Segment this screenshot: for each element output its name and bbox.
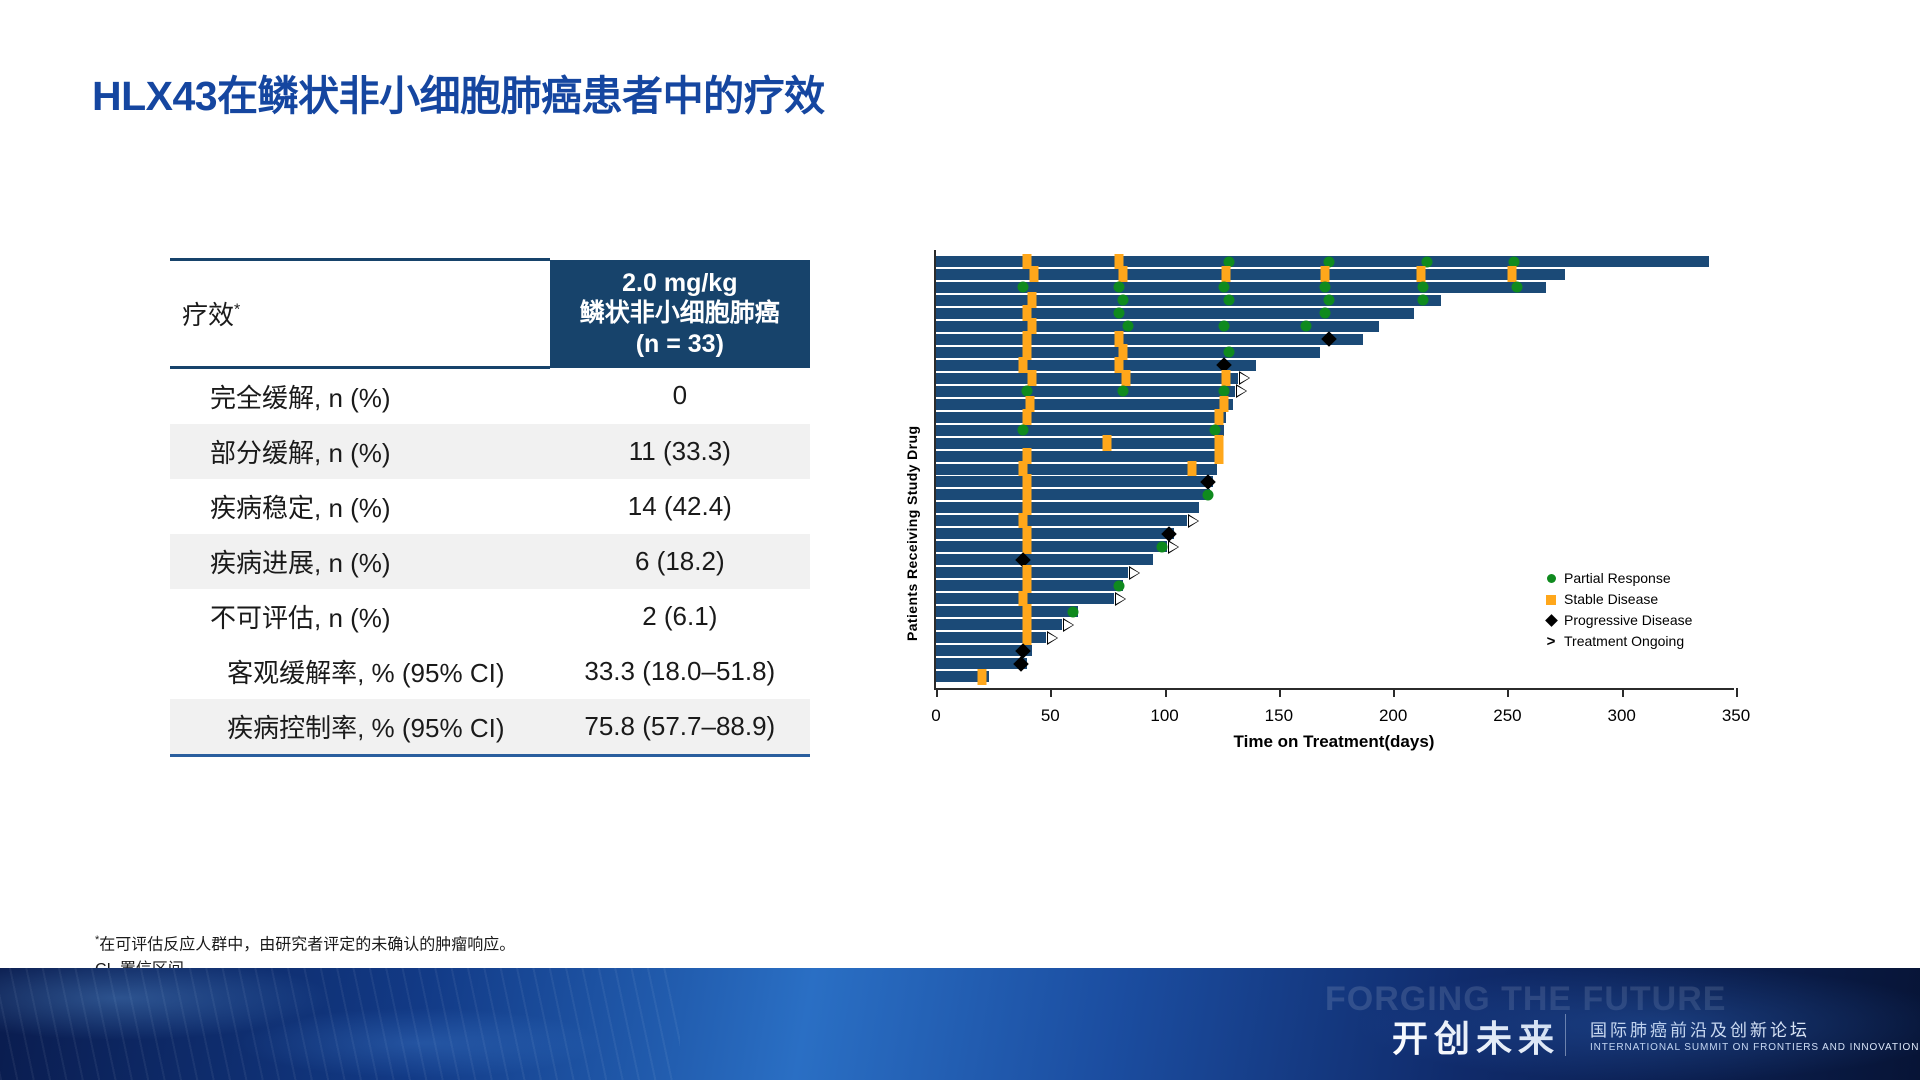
row-value: 14 (42.4) — [550, 479, 810, 534]
patient-bar-row — [936, 502, 1736, 513]
patient-bar-row — [936, 528, 1736, 539]
partial-response-marker — [1509, 256, 1520, 267]
x-axis-title: Time on Treatment(days) — [934, 732, 1734, 752]
legend-label: Treatment Ongoing — [1562, 631, 1684, 652]
stable-disease-marker — [1320, 266, 1329, 282]
partial-response-marker — [1223, 347, 1234, 358]
partial-response-marker — [1422, 256, 1433, 267]
row-value: 2 (6.1) — [550, 589, 810, 644]
patient-bar — [936, 308, 1414, 319]
x-axis-tick — [1279, 688, 1281, 697]
stable-disease-marker — [1030, 266, 1039, 282]
table-row: 完全缓解, n (%)0 — [170, 368, 810, 425]
treatment-ongoing-marker — [1115, 592, 1126, 606]
table-header-label: 疗效 — [182, 300, 234, 330]
table-header-row: 疗效* 2.0 mg/kg 鳞状非小细胞肺癌 (n = 33) — [170, 260, 810, 368]
patient-bar-row — [936, 671, 1736, 682]
row-value: 0 — [550, 368, 810, 425]
patient-bar — [936, 347, 1320, 358]
row-value: 6 (18.2) — [550, 534, 810, 589]
partial-response-marker — [1511, 282, 1522, 293]
table-row: 疾病稳定, n (%)14 (42.4) — [170, 479, 810, 534]
x-axis-tick-label: 100 — [1150, 706, 1178, 726]
table-body: 疗效* 2.0 mg/kg 鳞状非小细胞肺癌 (n = 33) — [170, 260, 810, 368]
row-label: 疾病稳定, n (%) — [170, 479, 550, 534]
row-value: 11 (33.3) — [550, 424, 810, 479]
header-indication: 鳞状非小细胞肺癌 — [550, 298, 810, 329]
stable-disease-marker — [1215, 409, 1224, 425]
patient-bar — [936, 334, 1363, 345]
treatment-ongoing-marker — [1129, 566, 1140, 580]
footer-subtitle-en: INTERNATIONAL SUMMIT ON FRONTIERS AND IN… — [1590, 1042, 1920, 1053]
treatment-ongoing-marker — [1047, 631, 1058, 645]
table-row: 疾病进展, n (%)6 (18.2) — [170, 534, 810, 589]
treatment-ongoing-marker — [1236, 384, 1247, 398]
footer-divider — [1565, 1014, 1566, 1056]
stable-disease-marker — [1215, 448, 1224, 464]
x-axis-tick-label: 50 — [1041, 706, 1060, 726]
patient-bar-row — [936, 412, 1736, 423]
x-axis-tick — [1393, 688, 1395, 697]
patient-bar-row — [936, 308, 1736, 319]
efficacy-table: 疗效* 2.0 mg/kg 鳞状非小细胞肺癌 (n = 33) 完全缓解, n … — [170, 258, 810, 757]
partial-response-marker — [1219, 386, 1230, 397]
patient-bar — [936, 541, 1167, 552]
patient-bar-row — [936, 347, 1736, 358]
chart-legend: Partial ResponseStable DiseaseProgressiv… — [1540, 568, 1692, 652]
treatment-ongoing-icon: > — [1540, 634, 1562, 649]
patient-bar — [936, 567, 1128, 578]
patient-bar-row — [936, 321, 1736, 332]
footer-subtitle-cn: 国际肺癌前沿及创新论坛 — [1590, 1016, 1810, 1041]
partial-response-marker — [1068, 606, 1079, 617]
stable-disease-marker — [1028, 370, 1037, 386]
treatment-ongoing-marker — [1239, 371, 1250, 385]
table-row: 疾病控制率, % (95% CI)75.8 (57.7–88.9) — [170, 699, 810, 756]
row-label: 客观缓解率, % (95% CI) — [170, 644, 550, 699]
legend-item: Progressive Disease — [1540, 610, 1692, 631]
patient-bar-row — [936, 295, 1736, 306]
table-row: 不可评估, n (%)2 (6.1) — [170, 589, 810, 644]
treatment-ongoing-marker — [1063, 618, 1074, 632]
patient-bar-row — [936, 282, 1736, 293]
patient-bar-row — [936, 373, 1736, 384]
x-axis-tick — [1622, 688, 1624, 697]
patient-bar-row — [936, 541, 1736, 552]
partial-response-marker — [1219, 282, 1230, 293]
patient-bar-row — [936, 399, 1736, 410]
patient-bar — [936, 476, 1213, 487]
partial-response-marker — [1301, 321, 1312, 332]
patient-bar-row — [936, 334, 1736, 345]
partial-response-marker — [1324, 256, 1335, 267]
x-axis-tick-label: 150 — [1265, 706, 1293, 726]
stable-disease-marker — [977, 669, 986, 685]
patient-bar-row — [936, 489, 1736, 500]
patient-bar — [936, 425, 1224, 436]
patient-bar — [936, 256, 1709, 267]
partial-response-marker — [1319, 282, 1330, 293]
row-label: 疾病控制率, % (95% CI) — [170, 699, 550, 756]
y-axis-title: Patients Receiving Study Drug — [904, 368, 920, 698]
patient-bar — [936, 360, 1256, 371]
stable-disease-marker — [1121, 370, 1130, 386]
row-label: 疾病进展, n (%) — [170, 534, 550, 589]
row-label: 完全缓解, n (%) — [170, 368, 550, 425]
legend-label: Partial Response — [1562, 568, 1671, 589]
legend-item: >Treatment Ongoing — [1540, 631, 1692, 652]
patient-bar — [936, 373, 1238, 384]
stable-disease-marker — [1416, 266, 1425, 282]
patient-bar — [936, 386, 1235, 397]
row-label: 部分缓解, n (%) — [170, 424, 550, 479]
stable-disease-marker — [1023, 630, 1032, 646]
patient-bar-row — [936, 360, 1736, 371]
partial-response-marker — [1118, 386, 1129, 397]
patient-bar — [936, 438, 1222, 449]
partial-response-icon — [1540, 574, 1562, 583]
patient-bar — [936, 606, 1078, 617]
patient-bar-row — [936, 451, 1736, 462]
x-axis-tick — [1507, 688, 1509, 697]
table-header-label-asterisk: * — [234, 301, 240, 318]
treatment-ongoing-marker — [1168, 540, 1179, 554]
x-axis-tick-label: 350 — [1722, 706, 1750, 726]
partial-response-marker — [1319, 308, 1330, 319]
progressive-disease-icon — [1540, 616, 1562, 625]
page-title: HLX43在鳞状非小细胞肺癌患者中的疗效 — [92, 62, 825, 122]
stable-disease-icon — [1540, 595, 1562, 605]
swimmer-plot: Patients Receiving Study Drug 0501001502… — [910, 250, 1790, 780]
partial-response-marker — [1017, 282, 1028, 293]
partial-response-marker — [1417, 295, 1428, 306]
partial-response-marker — [1324, 295, 1335, 306]
patient-bar-row — [936, 658, 1736, 669]
stable-disease-marker — [1018, 357, 1027, 373]
footer-brand-cn: 开创未来 — [1392, 1010, 1560, 1062]
legend-item: Stable Disease — [1540, 589, 1692, 610]
patient-bar-row — [936, 476, 1736, 487]
partial-response-marker — [1223, 295, 1234, 306]
stable-disease-marker — [1023, 409, 1032, 425]
table-row: 客观缓解率, % (95% CI)33.3 (18.0–51.8) — [170, 644, 810, 699]
x-axis-tick — [936, 688, 938, 697]
x-axis-tick — [1736, 688, 1738, 697]
partial-response-marker — [1209, 425, 1220, 436]
patient-bar-row — [936, 269, 1736, 280]
partial-response-marker — [1113, 308, 1124, 319]
patient-bar — [936, 464, 1217, 475]
patient-bar — [936, 528, 1174, 539]
table-rows: 完全缓解, n (%)0部分缓解, n (%)11 (33.3)疾病稳定, n … — [170, 368, 810, 756]
slide-footer: FORGING THE FUTURE 开创未来 国际肺癌前沿及创新论坛 INTE… — [0, 968, 1920, 1080]
patient-bar — [936, 295, 1441, 306]
x-axis-tick — [1165, 688, 1167, 697]
treatment-ongoing-marker — [1188, 514, 1199, 528]
partial-response-marker — [1203, 489, 1214, 500]
stable-disease-marker — [1103, 435, 1112, 451]
patient-bar-row — [936, 464, 1736, 475]
partial-response-marker — [1118, 295, 1129, 306]
partial-response-marker — [1123, 321, 1134, 332]
partial-response-marker — [1113, 580, 1124, 591]
partial-response-marker — [1022, 386, 1033, 397]
patient-bar — [936, 515, 1187, 526]
partial-response-marker — [1223, 256, 1234, 267]
partial-response-marker — [1417, 282, 1428, 293]
legend-item: Partial Response — [1540, 568, 1692, 589]
patient-bar — [936, 554, 1153, 565]
stable-disease-marker — [1188, 461, 1197, 477]
patient-bar-row — [936, 425, 1736, 436]
patient-bar-row — [936, 554, 1736, 565]
patient-bar — [936, 502, 1199, 513]
partial-response-marker — [1157, 541, 1168, 552]
stable-disease-marker — [1222, 370, 1231, 386]
footnote-text-1: 在可评估反应人群中，由研究者评定的未确认的肿瘤响应。 — [99, 936, 515, 953]
patient-bar-row — [936, 438, 1736, 449]
table-row: 部分缓解, n (%)11 (33.3) — [170, 424, 810, 479]
stable-disease-marker — [1023, 539, 1032, 555]
partial-response-marker — [1219, 321, 1230, 332]
partial-response-marker — [1113, 282, 1124, 293]
patient-bar-row — [936, 515, 1736, 526]
stable-disease-marker — [1508, 266, 1517, 282]
stable-disease-marker — [1222, 266, 1231, 282]
table-header-value-cell: 2.0 mg/kg 鳞状非小细胞肺癌 (n = 33) — [550, 260, 810, 368]
row-value: 33.3 (18.0–51.8) — [550, 644, 810, 699]
table-header-label-cell: 疗效* — [170, 260, 550, 368]
x-axis-tick — [1050, 688, 1052, 697]
row-value: 75.8 (57.7–88.9) — [550, 699, 810, 756]
patient-bar — [936, 451, 1219, 462]
x-axis-tick-label: 0 — [931, 706, 940, 726]
legend-label: Progressive Disease — [1562, 610, 1692, 631]
patient-bar — [936, 412, 1226, 423]
legend-label: Stable Disease — [1562, 589, 1658, 610]
row-label: 不可评估, n (%) — [170, 589, 550, 644]
header-dose: 2.0 mg/kg — [550, 268, 810, 299]
patient-bar — [936, 489, 1210, 500]
patient-bar — [936, 619, 1062, 630]
patient-bar — [936, 399, 1233, 410]
x-axis-tick-label: 250 — [1493, 706, 1521, 726]
x-axis-tick-label: 300 — [1608, 706, 1636, 726]
patient-bar — [936, 321, 1379, 332]
stable-disease-marker — [1119, 266, 1128, 282]
partial-response-marker — [1017, 425, 1028, 436]
x-axis-tick-label: 200 — [1379, 706, 1407, 726]
footnote-line-1: *在可评估反应人群中，由研究者评定的未确认的肿瘤响应。 — [95, 932, 515, 958]
patient-bar-row — [936, 256, 1736, 267]
header-n: (n = 33) — [550, 329, 810, 360]
footer-ghost-text: FORGING THE FUTURE — [1325, 980, 1726, 1019]
patient-bar-row — [936, 386, 1736, 397]
